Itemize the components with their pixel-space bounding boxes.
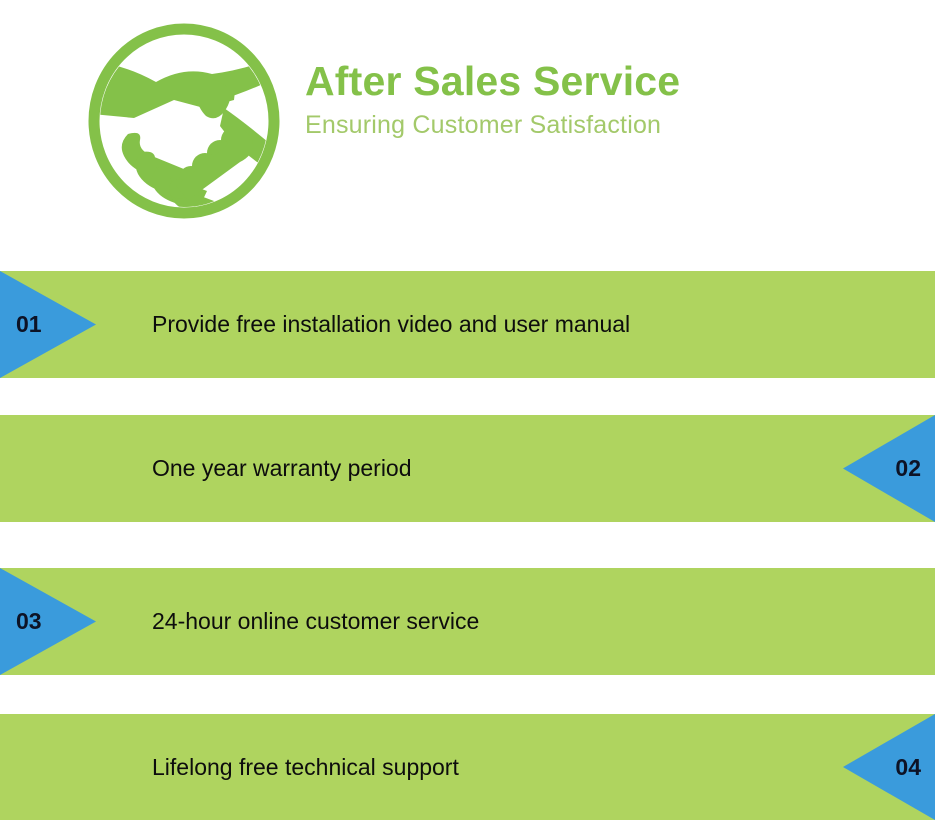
arrow-right-icon [0,568,96,675]
step-number: 04 [895,714,921,820]
list-item[interactable]: 02 One year warranty period [0,415,935,522]
service-list: 01 Provide free installation video and u… [0,0,935,820]
arrow-left-icon [843,714,935,820]
step-number: 02 [895,415,921,522]
step-number: 01 [16,271,42,378]
arrow-left-icon [843,415,935,522]
list-item-label: Provide free installation video and user… [152,271,630,378]
list-item-label: Lifelong free technical support [152,714,459,820]
list-item-label: 24-hour online customer service [152,568,479,675]
step-number: 03 [16,568,42,675]
list-item[interactable]: 03 24-hour online customer service [0,568,935,675]
list-item[interactable]: 01 Provide free installation video and u… [0,271,935,378]
arrow-right-icon [0,271,96,378]
list-item-label: One year warranty period [152,415,412,522]
list-item[interactable]: 04 Lifelong free technical support [0,714,935,820]
